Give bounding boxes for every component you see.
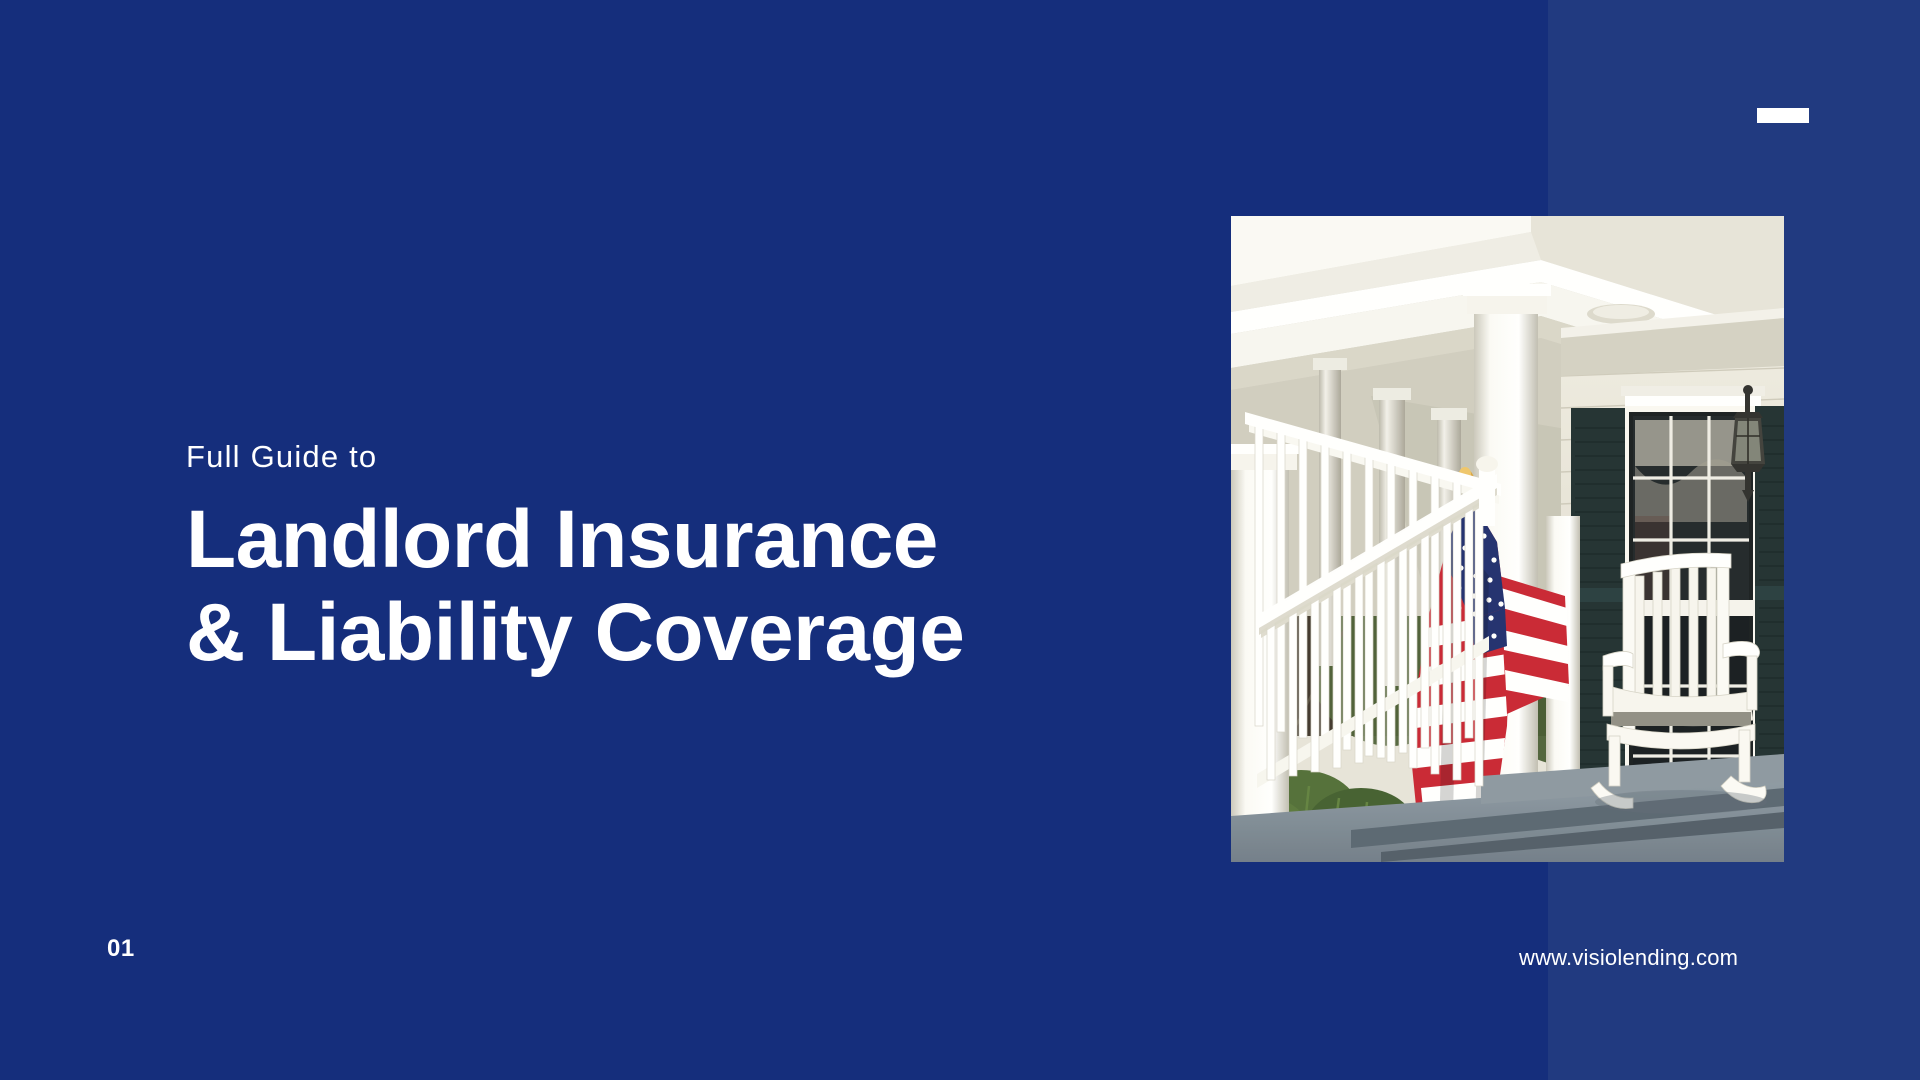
website-url[interactable]: www.visiolending.com: [1519, 945, 1738, 971]
headline-line-2: & Liability Coverage: [186, 587, 1186, 680]
slide-canvas: Full Guide to Landlord Insurance & Liabi…: [0, 0, 1920, 1080]
title-block: Full Guide to Landlord Insurance & Liabi…: [186, 440, 1186, 679]
page-number: 01: [107, 935, 135, 963]
white-dash-marker-icon: [1757, 108, 1809, 123]
eyebrow-text: Full Guide to: [186, 440, 1186, 474]
page-title: Landlord Insurance & Liability Coverage: [186, 494, 1186, 679]
headline-line-1: Landlord Insurance: [186, 494, 1186, 587]
hero-photo: [1231, 216, 1784, 862]
